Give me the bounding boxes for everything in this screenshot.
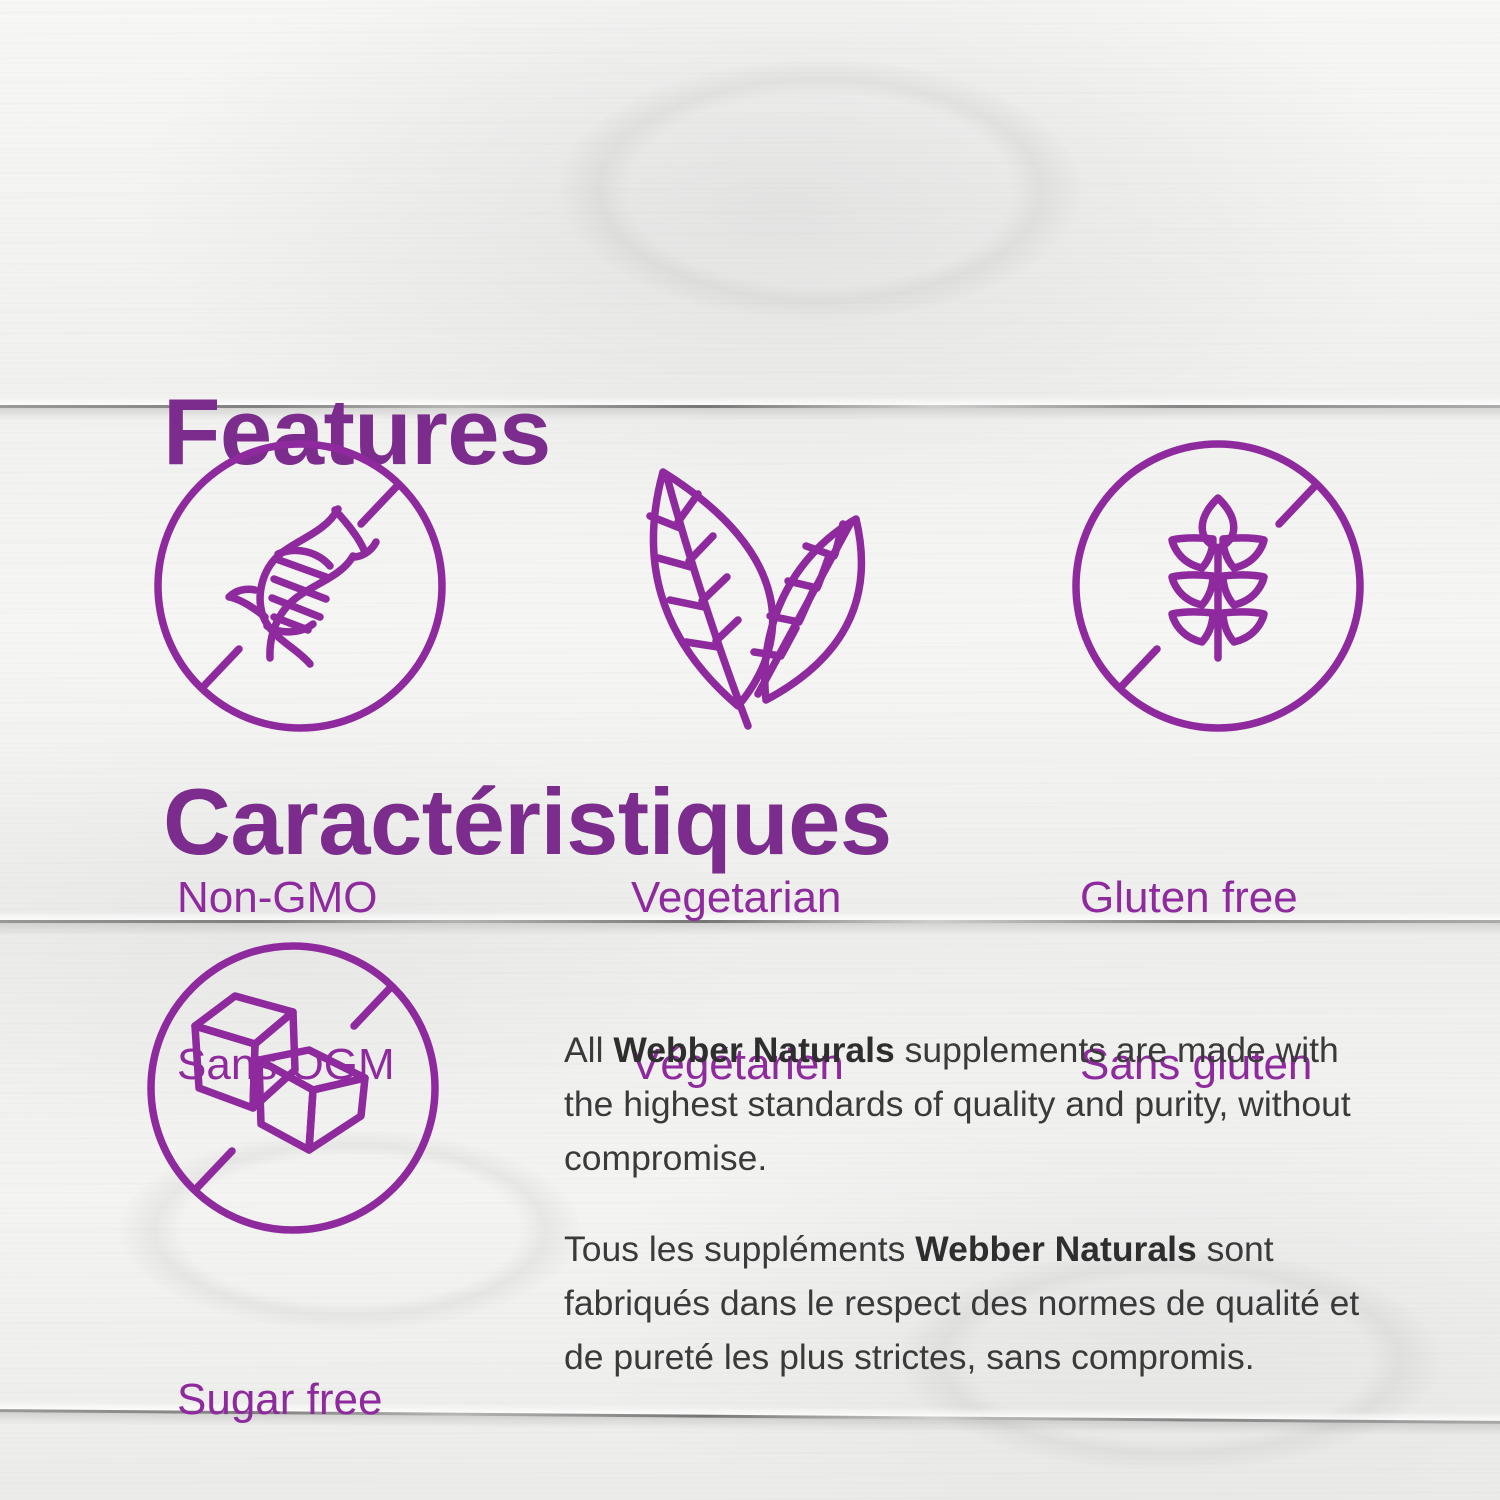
description-en-before: All [564, 1030, 613, 1070]
description-fr-before: Tous les suppléments [564, 1229, 915, 1269]
no-gmo-dna-icon [150, 436, 450, 736]
description-block: All Webber Naturals supplements are made… [564, 1024, 1394, 1385]
brand-name-fr: Webber Naturals [915, 1229, 1196, 1269]
feature-graphic: Features Caractéristiques [0, 0, 1500, 1500]
badge-label-en: Gluten free [1080, 870, 1312, 926]
gluten-free-wheat-icon [1068, 436, 1368, 736]
sugar-free-cubes-icon [143, 938, 443, 1238]
vegetarian-leaves-icon [610, 436, 910, 736]
description-paragraph-en: All Webber Naturals supplements are made… [564, 1024, 1394, 1186]
brand-name-en: Webber Naturals [613, 1030, 894, 1070]
badge-label-en: Non-GMO [177, 870, 395, 926]
paragraph-spacer [564, 1186, 1394, 1223]
badge-sugar-free: Sugar free Sans sucre [143, 938, 443, 1238]
badge-vegetarian: Vegetarian Végétarien [610, 436, 910, 736]
badge-label-en: Vegetarian [631, 870, 844, 926]
badge-label-en: Sugar free [177, 1372, 397, 1428]
badge-sugar-free-label: Sugar free Sans sucre [177, 1260, 397, 1500]
description-paragraph-fr: Tous les suppléments Webber Naturals son… [564, 1223, 1394, 1385]
badge-gluten-free: Gluten free Sans gluten [1068, 436, 1368, 736]
badge-non-gmo: Non-GMO Sans OGM [150, 436, 450, 736]
